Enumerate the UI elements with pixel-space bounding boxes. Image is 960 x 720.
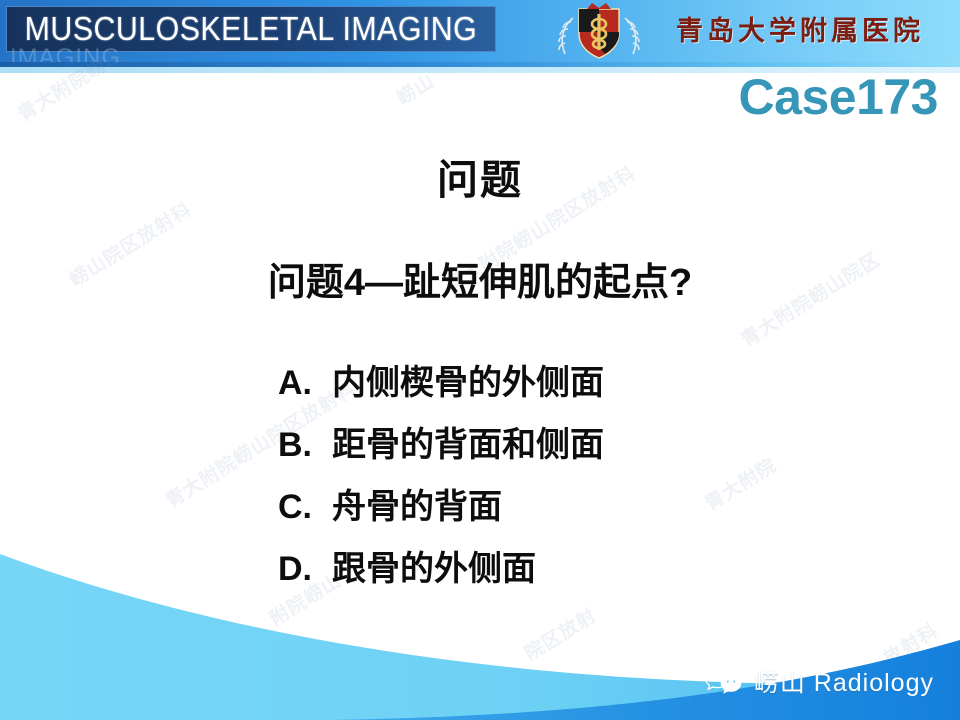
option-letter-d: D.	[278, 538, 332, 600]
answer-option-a[interactable]: A. 内侧楔骨的外侧面	[278, 352, 838, 414]
footer-brand-text: 崂山 Radiology	[754, 663, 934, 699]
answer-options-list: A. 内侧楔骨的外侧面 B. 距骨的背面和侧面 C. 舟骨的背面 D. 跟骨的外…	[278, 352, 838, 600]
question-heading: 问题	[0, 155, 960, 205]
footer-brand: 崂山 Radiology	[704, 664, 934, 698]
option-text-a: 内侧楔骨的外侧面	[332, 352, 604, 414]
answer-option-d[interactable]: D. 跟骨的外侧面	[278, 538, 838, 600]
hospital-emblem-icon	[543, 2, 655, 62]
option-text-d: 跟骨的外侧面	[332, 538, 536, 600]
answer-option-c[interactable]: C. 舟骨的背面	[278, 476, 838, 538]
watermark: 院区放射	[519, 601, 601, 666]
question-prompt: 问题4—趾短伸肌的起点?	[0, 258, 960, 308]
option-letter-c: C.	[278, 476, 332, 538]
option-letter-b: B.	[278, 414, 332, 476]
option-letter-a: A.	[278, 352, 332, 414]
case-title: Case173	[739, 68, 938, 126]
header-banner: MUSCULOSKELETAL IMAGING IMAGING	[0, 0, 960, 62]
hospital-name-text: 青岛大学附属医院	[676, 12, 922, 52]
musculoskeletal-imaging-plate: MUSCULOSKELETAL IMAGING	[6, 6, 496, 52]
musculoskeletal-imaging-title: MUSCULOSKELETAL IMAGING	[25, 10, 478, 48]
hospital-emblem	[543, 2, 655, 62]
answer-option-b[interactable]: B. 距骨的背面和侧面	[278, 414, 838, 476]
option-text-c: 舟骨的背面	[332, 476, 502, 538]
watermark: 崂山	[391, 66, 439, 110]
slide-canvas: MUSCULOSKELETAL IMAGING IMAGING	[0, 0, 960, 720]
wechat-icon	[704, 666, 744, 696]
option-text-b: 距骨的背面和侧面	[332, 414, 604, 476]
